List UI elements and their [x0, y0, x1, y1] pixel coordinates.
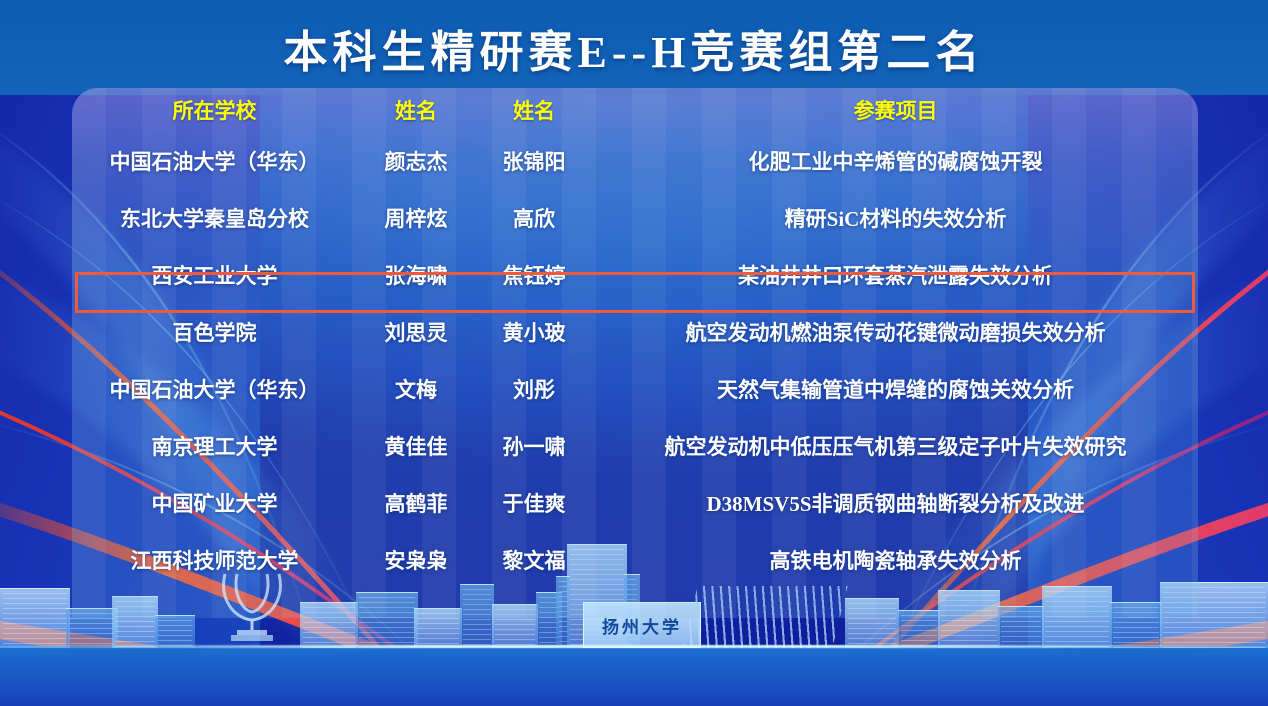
cell-name-2: 孙一啸: [475, 417, 593, 474]
cell-name-1: 张海啸: [357, 246, 475, 303]
cell-school: 中国矿业大学: [72, 474, 357, 531]
column-header-school: 所在学校: [72, 88, 357, 132]
cell-school: 东北大学秦皇岛分校: [72, 189, 357, 246]
cell-project: D38MSV5S非调质钢曲轴断裂分析及改进: [593, 474, 1198, 531]
column-header-project: 参赛项目: [593, 88, 1198, 132]
cell-name-2: 黄小玻: [475, 303, 593, 360]
cell-name-2: 焦钰婷: [475, 246, 593, 303]
cell-project: 高铁电机陶瓷轴承失效分析: [593, 531, 1198, 588]
results-table: 所在学校 姓名 姓名 参赛项目 中国石油大学（华东） 颜志杰 张锦阳 化肥工业中…: [72, 88, 1198, 588]
cell-project: 精研SiC材料的失效分析: [593, 189, 1198, 246]
cell-name-2: 高欣: [475, 189, 593, 246]
footer-ground: [0, 646, 1268, 706]
column-header-name-2: 姓名: [475, 88, 593, 132]
cell-school: 江西科技师范大学: [72, 531, 357, 588]
cell-name-2: 刘彤: [475, 360, 593, 417]
cell-name-2: 黎文福: [475, 531, 593, 588]
cell-name-1: 高鹤菲: [357, 474, 475, 531]
cell-project: 航空发动机燃油泵传动花键微动磨损失效分析: [593, 303, 1198, 360]
table-row: 中国石油大学（华东） 颜志杰 张锦阳 化肥工业中辛烯管的碱腐蚀开裂: [72, 132, 1198, 189]
cell-name-1: 刘思灵: [357, 303, 475, 360]
cell-name-1: 周梓炫: [357, 189, 475, 246]
table-row: 东北大学秦皇岛分校 周梓炫 高欣 精研SiC材料的失效分析: [72, 189, 1198, 246]
cell-name-2: 于佳爽: [475, 474, 593, 531]
table-row: 江西科技师范大学 安枭枭 黎文福 高铁电机陶瓷轴承失效分析: [72, 531, 1198, 588]
cell-school: 西安工业大学: [72, 246, 357, 303]
column-header-name-1: 姓名: [357, 88, 475, 132]
cell-name-1: 文梅: [357, 360, 475, 417]
building: [155, 615, 195, 648]
cell-school: 中国石油大学（华东）: [72, 132, 357, 189]
cell-school: 南京理工大学: [72, 417, 357, 474]
cell-school: 百色学院: [72, 303, 357, 360]
cell-project: 航空发动机中低压压气机第三级定子叶片失效研究: [593, 417, 1198, 474]
cell-project: 某油井井口环套蒸汽泄露失效分析: [593, 246, 1198, 303]
table-row: 中国石油大学（华东） 文梅 刘彤 天然气集输管道中焊缝的腐蚀关效分析: [72, 360, 1198, 417]
table-row: 中国矿业大学 高鹤菲 于佳爽 D38MSV5S非调质钢曲轴断裂分析及改进: [72, 474, 1198, 531]
cell-project: 化肥工业中辛烯管的碱腐蚀开裂: [593, 132, 1198, 189]
table-row: 百色学院 刘思灵 黄小玻 航空发动机燃油泵传动花键微动磨损失效分析: [72, 303, 1198, 360]
table-row-highlighted: 西安工业大学 张海啸 焦钰婷 某油井井口环套蒸汽泄露失效分析: [72, 246, 1198, 303]
horizon-line: [0, 645, 1268, 648]
cell-project: 天然气集输管道中焊缝的腐蚀关效分析: [593, 360, 1198, 417]
table-row: 南京理工大学 黄佳佳 孙一啸 航空发动机中低压压气机第三级定子叶片失效研究: [72, 417, 1198, 474]
page-title: 本科生精研赛E--H竞赛组第二名: [0, 16, 1268, 80]
cell-name-1: 颜志杰: [357, 132, 475, 189]
building: [0, 588, 70, 648]
results-panel: 所在学校 姓名 姓名 参赛项目 中国石油大学（华东） 颜志杰 张锦阳 化肥工业中…: [72, 88, 1198, 618]
cell-name-2: 张锦阳: [475, 132, 593, 189]
cell-name-1: 安枭枭: [357, 531, 475, 588]
table-header-row: 所在学校 姓名 姓名 参赛项目: [72, 88, 1198, 132]
cell-school: 中国石油大学（华东）: [72, 360, 357, 417]
slide-canvas: 本科生精研赛E--H竞赛组第二名 所在学校 姓名 姓名 参赛项目 中国石油大学（…: [0, 0, 1268, 706]
cell-name-1: 黄佳佳: [357, 417, 475, 474]
